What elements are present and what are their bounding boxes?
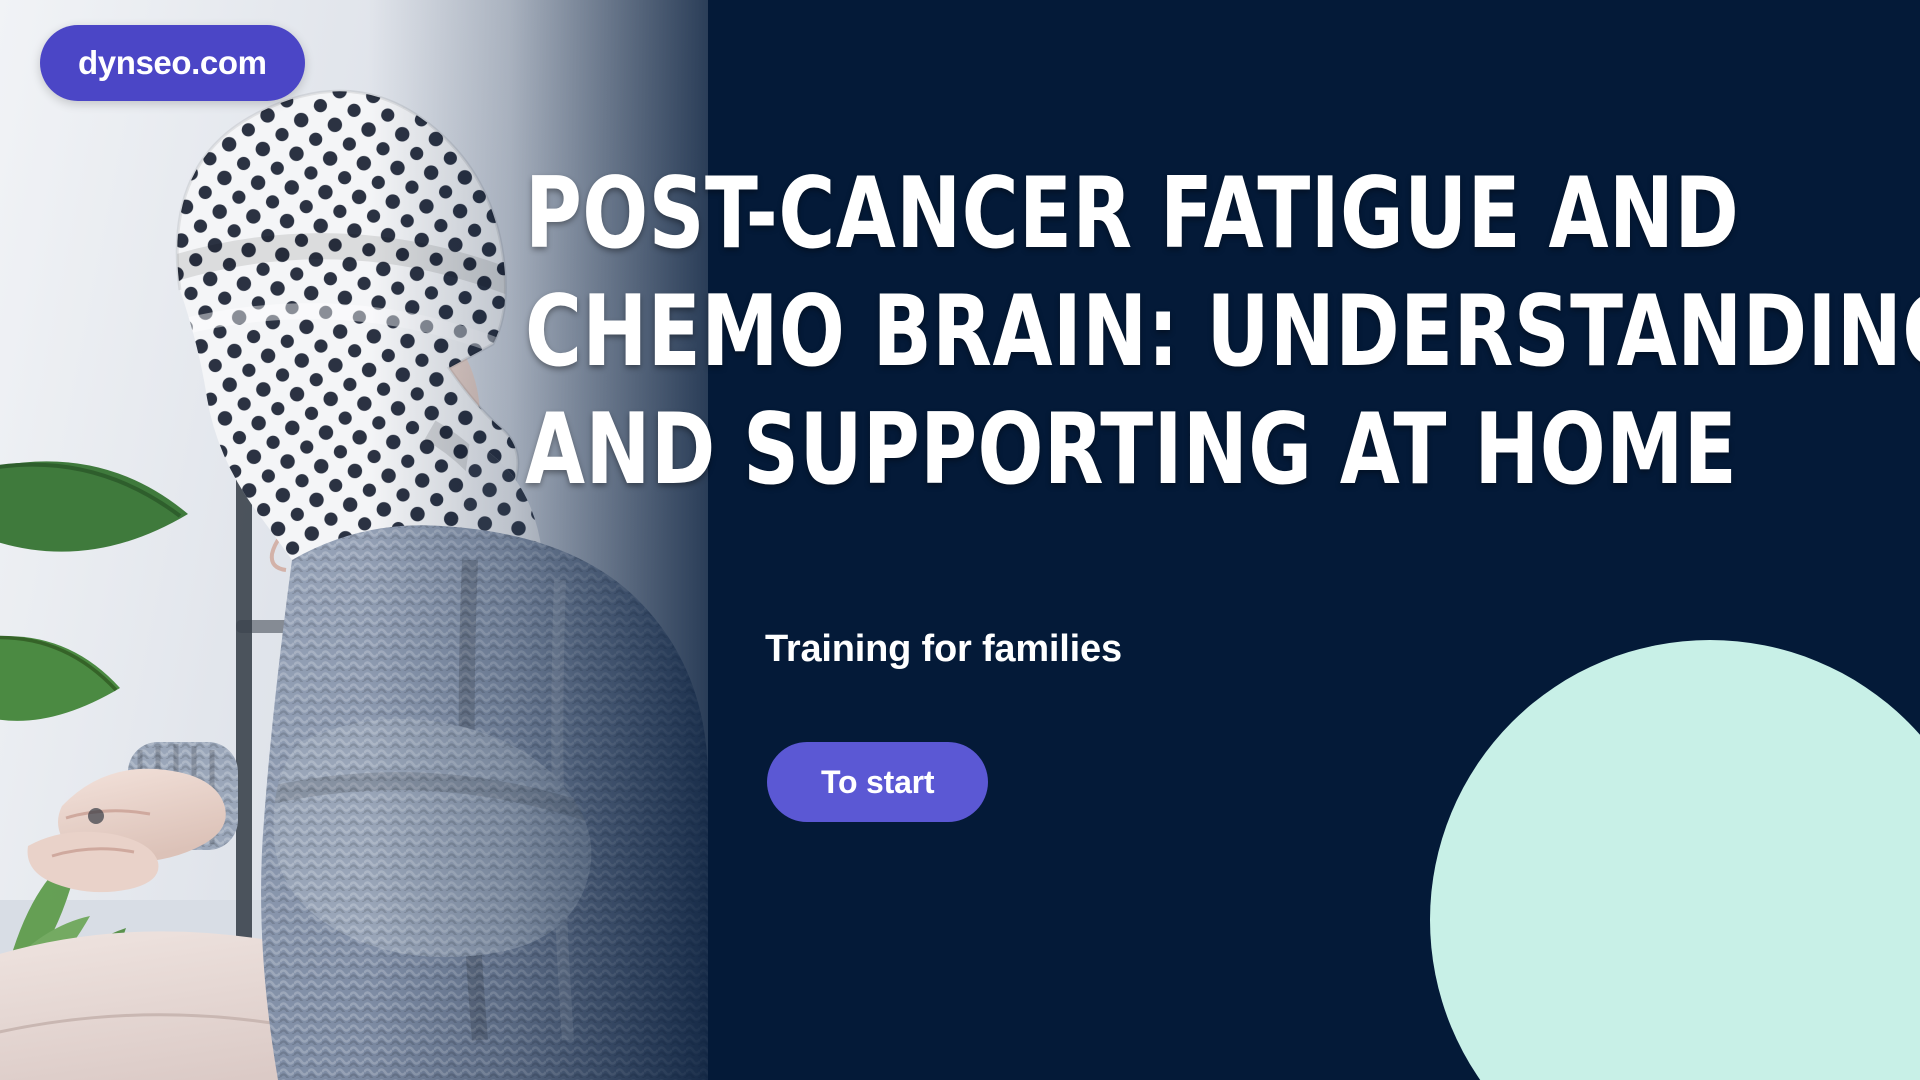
page-title: Post-cancer fatigue and chemo brain: und… bbox=[525, 155, 1651, 509]
hero-content: Post-cancer fatigue and chemo brain: und… bbox=[525, 0, 1865, 1080]
title-line-3: and supporting at home bbox=[525, 391, 1651, 509]
site-badge-label: dynseo.com bbox=[78, 44, 267, 82]
hero-subtitle: Training for families bbox=[765, 628, 1122, 671]
slide-root: dynseo.com Post-cancer fatigue and chemo… bbox=[0, 0, 1920, 1080]
title-line-2: chemo brain: understanding bbox=[525, 273, 1651, 391]
start-button-label: To start bbox=[821, 764, 934, 801]
title-line-1: Post-cancer fatigue and bbox=[525, 155, 1651, 273]
site-badge[interactable]: dynseo.com bbox=[40, 25, 305, 101]
start-button[interactable]: To start bbox=[767, 742, 988, 822]
